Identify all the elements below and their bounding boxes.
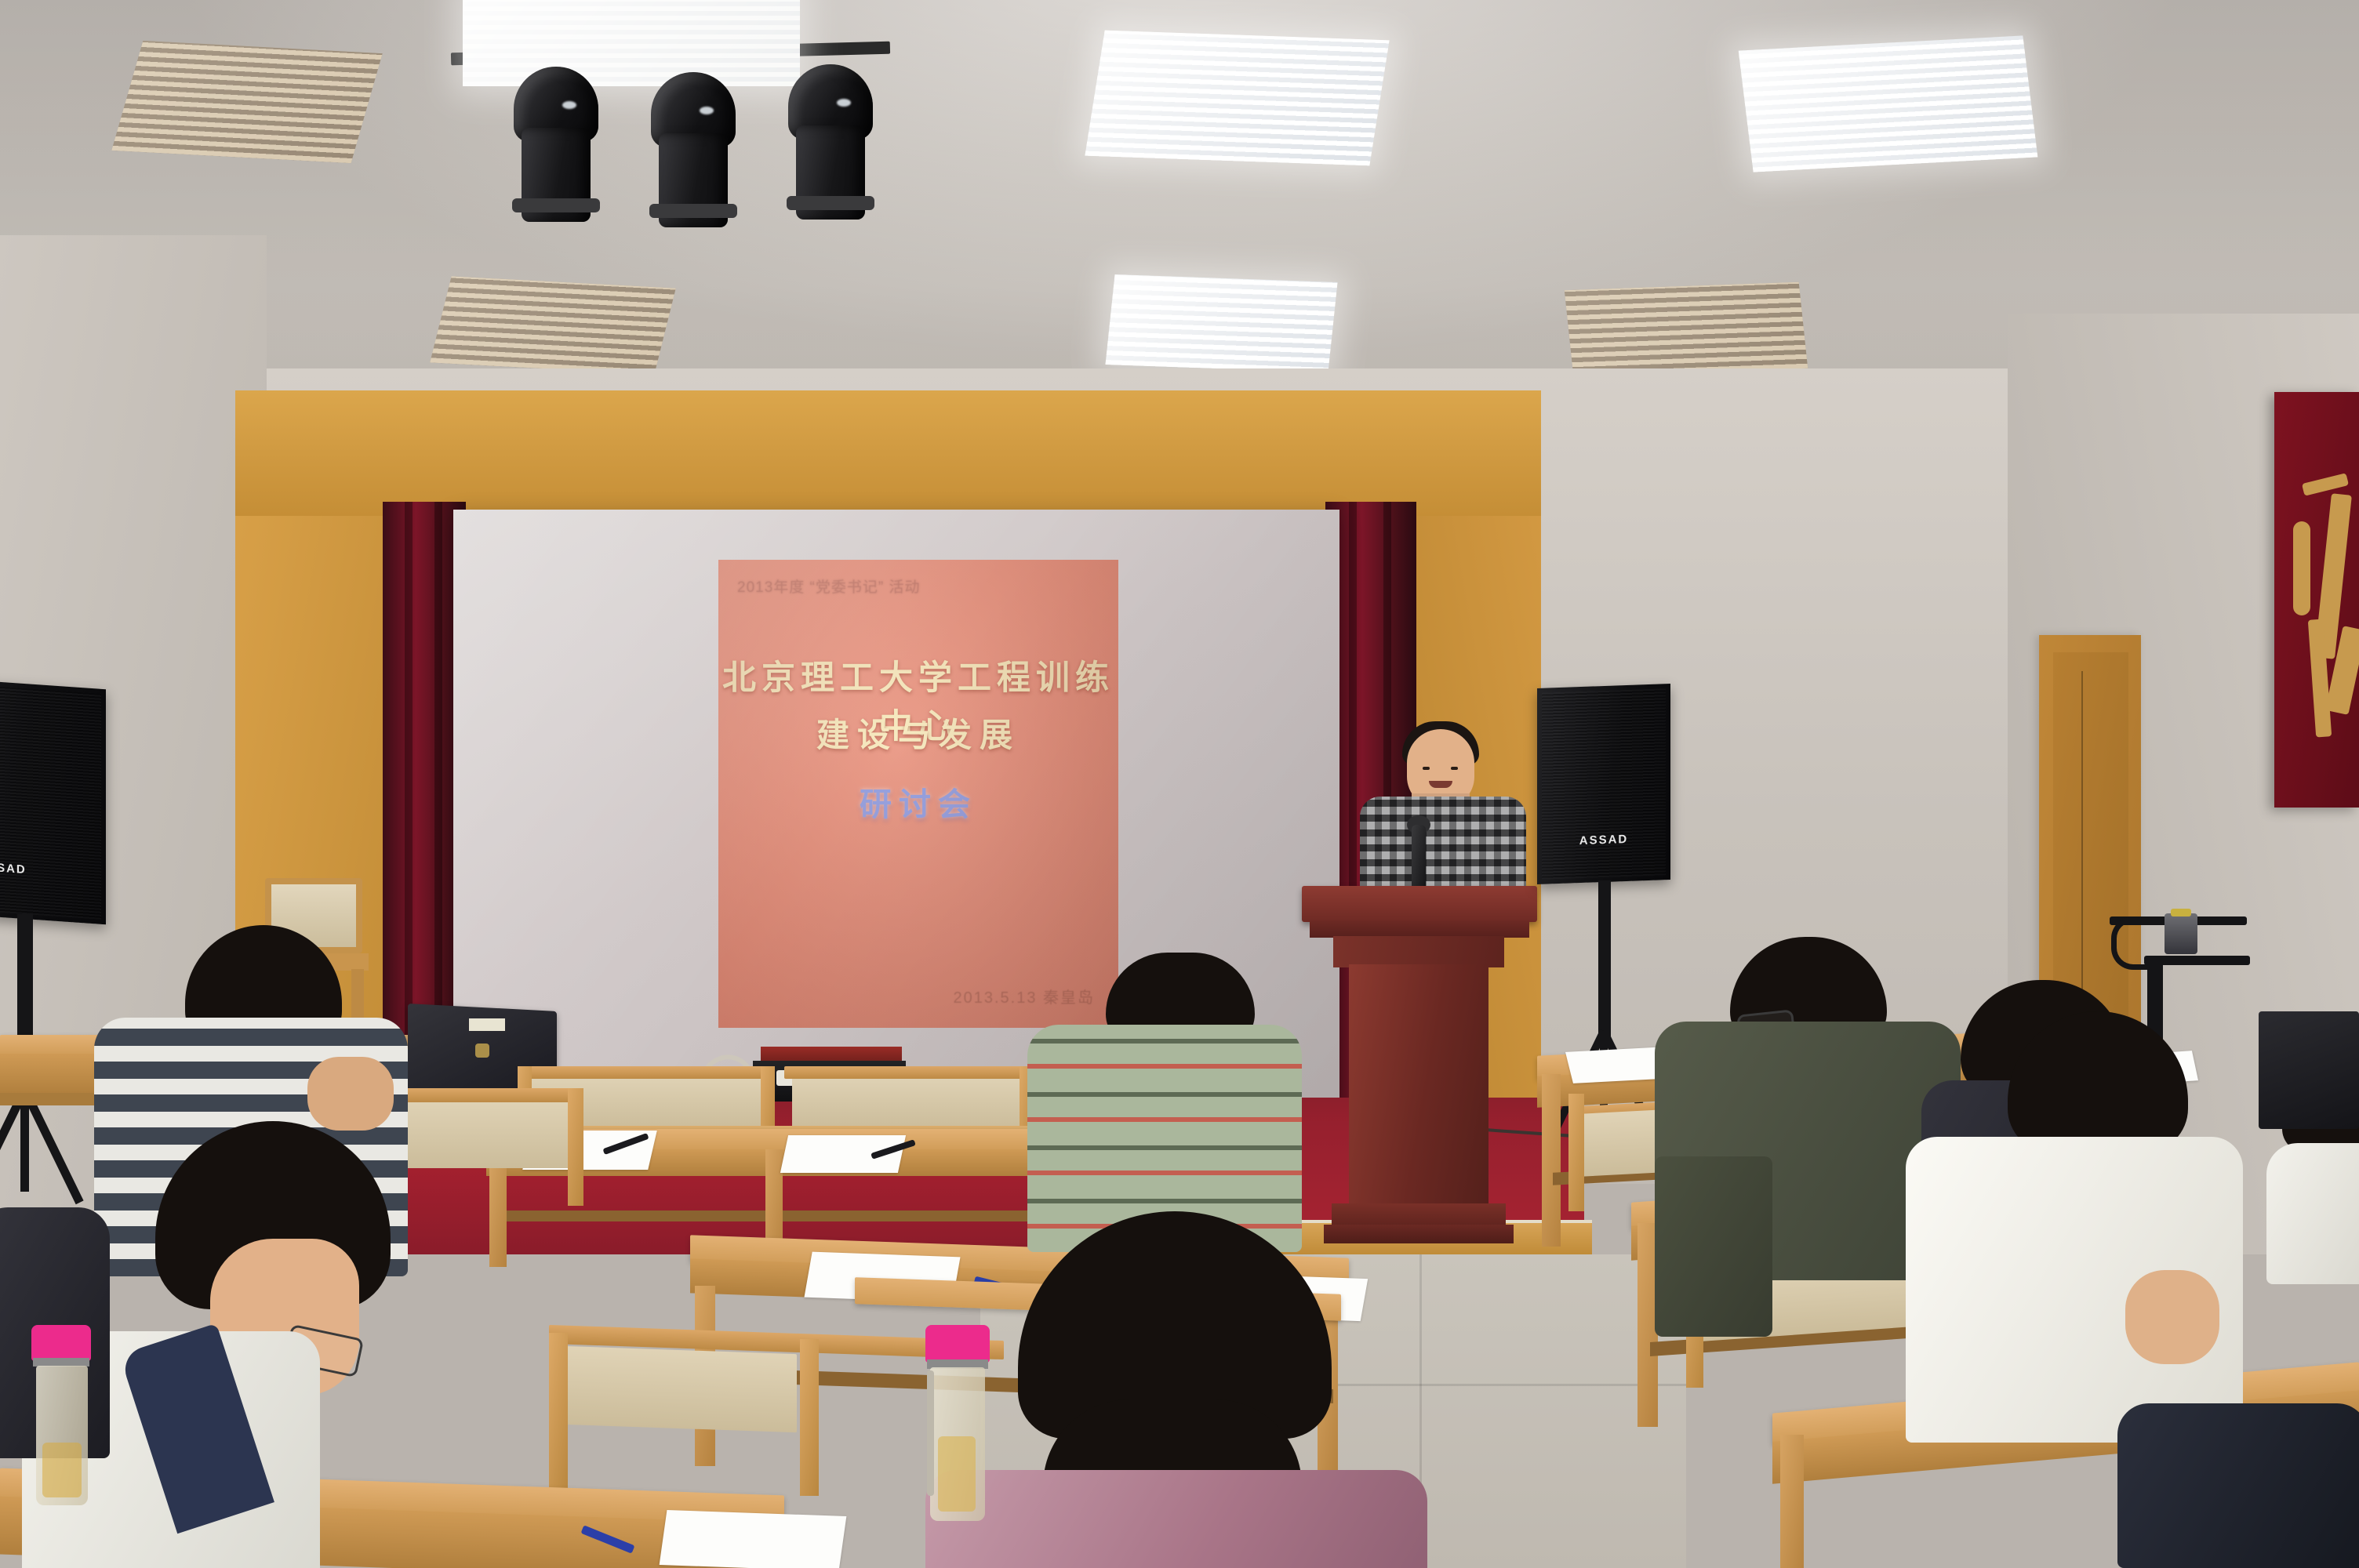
attendee-ponytail-pink [925, 1211, 1427, 1568]
pa-speaker-right-pole [1598, 880, 1611, 1045]
bottle-contents [42, 1443, 82, 1497]
attendee-dark-right-edge [2117, 1403, 2359, 1568]
presenter [1354, 721, 1534, 909]
attendee-torso [2117, 1403, 2359, 1568]
attendee-hand [307, 1057, 394, 1131]
podium-neck [1333, 936, 1504, 967]
attendee-sleeve [1655, 1156, 1772, 1337]
attendee-arm [2125, 1270, 2219, 1364]
camera-indicator [2171, 909, 2191, 916]
monitor-screen [2259, 1011, 2359, 1129]
bottle-cap [31, 1325, 91, 1361]
wall-plaque [2274, 392, 2359, 808]
troffer-panel-4 [1565, 282, 1808, 376]
front-wall-panel-header [235, 390, 1541, 516]
attendee-hair [2008, 1011, 2188, 1152]
bottle-pink-center[interactable] [925, 1325, 990, 1521]
conference-room-photo: 2013年度 “党委书记” 活动 北京理工大学工程训练中心 建设与发展 研讨会 … [0, 0, 2359, 1568]
spotlight-backplate [463, 0, 800, 86]
troffer-panel-2 [1085, 31, 1389, 166]
video-camera [2165, 913, 2197, 954]
pa-speaker-left-cabinet: ASSAD [0, 675, 106, 925]
troffer-panel-7 [430, 276, 676, 374]
paper-sheet [660, 1510, 847, 1568]
bottle-contents [938, 1436, 976, 1512]
attendee-white-tshirt [1874, 1011, 2243, 1450]
attendee-torso [925, 1470, 1427, 1568]
podium-top [1302, 886, 1537, 922]
podium [1302, 886, 1537, 1254]
podium-lip [1310, 920, 1529, 938]
troffer-panel-1 [111, 41, 382, 163]
troffer-panel-5 [1105, 274, 1337, 372]
hp-logo-icon [475, 1044, 489, 1058]
podium-column [1349, 964, 1488, 1207]
bottle-strap [927, 1370, 934, 1496]
bottle-cap [925, 1325, 990, 1363]
bottle-pink-left[interactable] [31, 1325, 91, 1505]
presenter-mouth [1429, 781, 1452, 788]
pa-speaker-right-cabinet: ASSAD [1537, 684, 1670, 884]
attendee-torso [2266, 1143, 2359, 1284]
troffer-panel-3 [1739, 35, 2038, 172]
